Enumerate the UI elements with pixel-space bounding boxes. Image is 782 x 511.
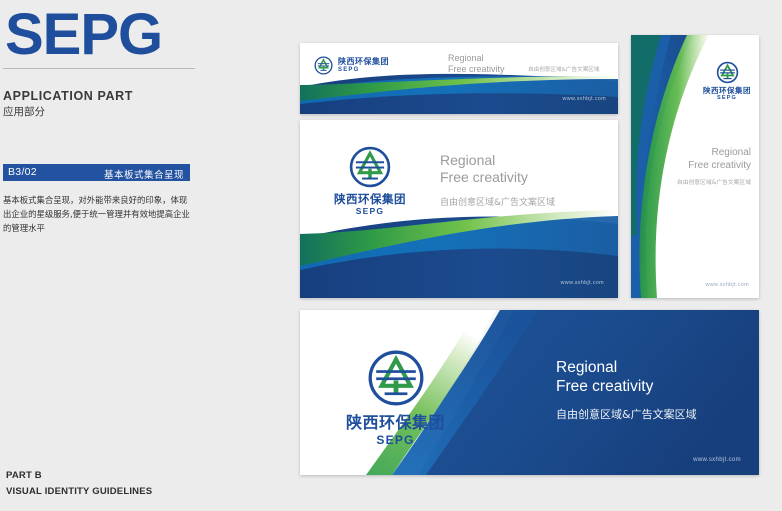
slogan-line1: Regional xyxy=(677,147,751,160)
logo-lockup: 陕西环保集团 SEPG xyxy=(346,348,445,447)
slogan-line-cn: 自由创意区域&广告文案区域 xyxy=(677,177,751,186)
slogan-block: Regional Free creativity 自由创意区域&广告文案区域 xyxy=(556,358,697,422)
section-bar: B3/02 基本板式集合呈现 xyxy=(3,164,190,181)
header-divider xyxy=(3,68,195,69)
left-info-panel: SEPG APPLICATION PART 应用部分 B3/02 基本板式集合呈… xyxy=(0,0,200,511)
slogan-block: Regional Free creativity 自由创意区域&广告文案区域 xyxy=(448,53,505,75)
slogan-line-cn: 自由创意区域&广告文案区域 xyxy=(556,406,697,422)
logo-name-cn: 陕西环保集团 xyxy=(334,192,406,206)
logo-lockup: 陕西环保集团 SEPG xyxy=(334,145,406,216)
slogan-line2: Free creativity xyxy=(556,377,697,396)
website-url: www.sxhbjt.com xyxy=(705,282,749,288)
slogan-line2: Free creativity xyxy=(440,169,555,186)
logo-name-cn: 陕西环保集团 xyxy=(338,57,389,67)
slogan-line1: Regional xyxy=(448,53,505,64)
slogan-line2: Free creativity xyxy=(448,64,505,75)
logo-name-en: SEPG xyxy=(703,95,751,102)
application-part-title-en: APPLICATION PART xyxy=(3,89,133,103)
sepg-circle-emblem-icon xyxy=(348,145,392,189)
envelope-mockup: 陕西环保集团 SEPG Regional Free creativity 自由创… xyxy=(300,43,618,114)
slogan-block: Regional Free creativity 自由创意区域&广告文案区域 xyxy=(677,147,751,186)
slogan-line-cn: 自由创意区域&广告文案区域 xyxy=(528,65,600,73)
slogan-line1: Regional xyxy=(556,358,697,377)
slogan-line1: Regional xyxy=(440,152,555,169)
brand-wordmark: SEPG xyxy=(5,4,195,66)
section-code: B3/02 xyxy=(8,166,37,178)
section-title-cn: 基本板式集合呈现 xyxy=(104,167,184,181)
vertical-brochure-mockup: 陕西环保集团 SEPG Regional Free creativity 自由创… xyxy=(631,35,759,298)
sepg-circle-emblem-icon xyxy=(314,56,333,75)
mockup-canvas: 陕西环保集团 SEPG Regional Free creativity 自由创… xyxy=(200,0,782,511)
footer-part-label: PART B xyxy=(6,470,152,481)
logo-name-en: SEPG xyxy=(338,67,389,74)
website-url: www.sxhbjt.com xyxy=(693,457,741,463)
sepg-circle-emblem-icon xyxy=(716,61,739,84)
vi-guidelines-page: SEPG APPLICATION PART 应用部分 B3/02 基本板式集合呈… xyxy=(0,0,782,511)
slogan-line2: Free creativity xyxy=(677,160,751,173)
logo-name-en: SEPG xyxy=(334,206,406,216)
logo-name-cn: 陕西环保集团 xyxy=(703,86,751,95)
logo-lockup: 陕西环保集团 SEPG xyxy=(314,56,389,75)
logo-name-cn: 陕西环保集团 xyxy=(346,413,445,433)
application-part-title-cn: 应用部分 xyxy=(3,104,45,119)
slogan-block: Regional Free creativity 自由创意区域&广告文案区域 xyxy=(440,152,555,208)
website-url: www.sxhbjt.com xyxy=(560,280,604,286)
logo-name-en: SEPG xyxy=(346,433,445,447)
website-url: www.sxhbjt.com xyxy=(562,96,606,102)
horizontal-card-mockup: 陕西环保集团 SEPG Regional Free creativity 自由创… xyxy=(300,120,618,298)
page-footer: PART B VISUAL IDENTITY GUIDELINES xyxy=(6,470,152,497)
wide-banner-mockup: 陕西环保集团 SEPG Regional Free creativity 自由创… xyxy=(300,310,759,475)
sepg-circle-emblem-icon xyxy=(366,348,426,408)
slogan-line-cn: 自由创意区域&广告文案区域 xyxy=(440,195,555,208)
footer-guidelines-label: VISUAL IDENTITY GUIDELINES xyxy=(6,486,152,497)
section-description: 基本板式集合呈现，对外能带来良好的印象，体现出企业的星级服务,便于统一管理并有效… xyxy=(3,193,193,235)
logo-lockup: 陕西环保集团 SEPG xyxy=(703,61,751,102)
